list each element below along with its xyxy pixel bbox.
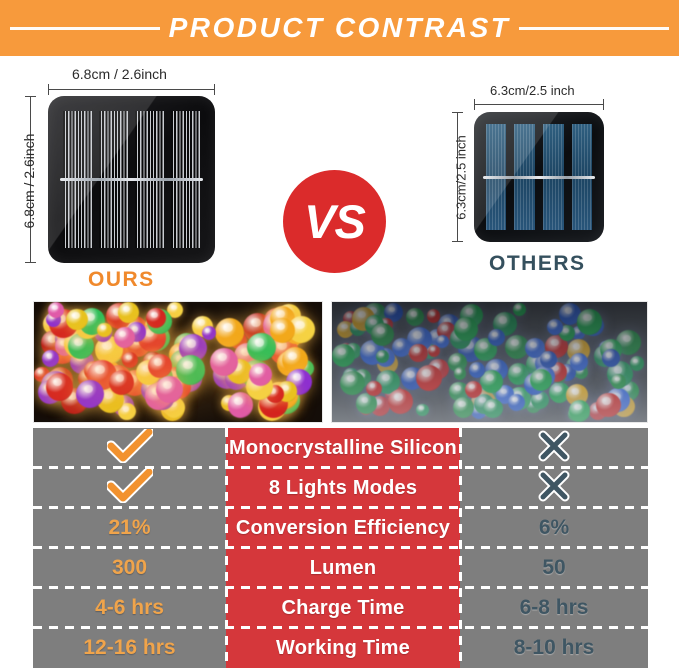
led-bulb (454, 317, 478, 341)
led-bulb (409, 344, 428, 363)
led-bulb (570, 353, 588, 371)
vs-label: VS (304, 194, 365, 249)
led-bulb (488, 329, 505, 346)
others-value-cell: 6% (460, 508, 648, 548)
others-width-dimension-line (474, 104, 604, 105)
ours-busbar (60, 178, 204, 181)
feature-label-cell: Conversion Efficiency (226, 508, 460, 548)
led-bulb (118, 302, 139, 323)
led-bulb (76, 380, 104, 408)
led-bulb (156, 376, 183, 403)
table-row: 300Lumen50 (33, 548, 648, 588)
led-bulb (577, 309, 603, 335)
led-bulb (202, 326, 217, 341)
feature-label-cell: Monocrystalline Silicon (226, 428, 460, 468)
feature-label-cell: 8 Lights Modes (226, 468, 460, 508)
table-vertical-separator-right (459, 428, 462, 668)
led-bulb (356, 393, 376, 413)
led-bulb (122, 352, 138, 368)
table-row: Monocrystalline Silicon (33, 428, 648, 468)
led-bulb (513, 303, 526, 316)
ours-height-label: 6.8cm / 2.6inch (21, 111, 37, 251)
led-bulb (366, 381, 382, 397)
led-bulb (109, 370, 134, 395)
check-icon (107, 429, 153, 463)
panel-comparison-area: 6.8cm / 2.6inch 6.8cm / 2.6inch OURS VS … (0, 56, 679, 290)
table-row: 8 Lights Modes (33, 468, 648, 508)
led-bulb (454, 367, 467, 380)
page-title: PRODUCT CONTRAST (160, 12, 520, 44)
led-bulb (371, 323, 394, 346)
others-busbar (483, 176, 595, 179)
others-value-text: 50 (542, 556, 565, 580)
others-value-text: 8-10 hrs (514, 636, 595, 660)
comparison-table: Monocrystalline Silicon8 Lights Modes21%… (33, 428, 648, 668)
others-value-cell (460, 428, 648, 468)
others-value-cell (460, 468, 648, 508)
product-contrast-infographic: PRODUCT CONTRAST 6.8cm / 2.6inch 6.8cm /… (0, 0, 679, 668)
header-banner: PRODUCT CONTRAST (0, 0, 679, 56)
led-bulb (210, 348, 238, 376)
led-bulb (340, 371, 364, 395)
vs-badge: VS (283, 170, 386, 273)
feature-label-cell: Lumen (226, 548, 460, 588)
others-value-cell: 50 (460, 548, 648, 588)
others-brand-label: OTHERS (489, 252, 586, 276)
others-value-text: 6-8 hrs (520, 596, 589, 620)
ours-value-text: 12-16 hrs (83, 636, 175, 660)
ours-value-text: 4-6 hrs (95, 596, 164, 620)
feature-label-cell: Working Time (226, 628, 460, 668)
led-bulb (547, 319, 563, 335)
led-bulb (436, 335, 449, 348)
table-vertical-separator-left (225, 428, 228, 668)
led-bulb (416, 404, 429, 417)
cross-icon (538, 430, 570, 462)
led-bulb (249, 363, 272, 386)
led-bulb (508, 394, 526, 412)
led-bulb (42, 350, 59, 367)
led-bulb (332, 344, 355, 367)
feature-label-cell: Charge Time (226, 588, 460, 628)
ours-value-cell: 21% (33, 508, 226, 548)
table-row: 4-6 hrsCharge Time6-8 hrs (33, 588, 648, 628)
led-bulb (602, 349, 620, 367)
cross-icon (538, 470, 570, 502)
ours-led-photo (33, 301, 323, 423)
led-bulb (569, 400, 591, 422)
ours-value-text: 21% (108, 516, 150, 540)
others-led-photo (331, 301, 648, 423)
ours-brand-label: OURS (88, 268, 155, 292)
led-bulb (46, 373, 74, 401)
led-bulb (540, 351, 557, 368)
led-bulb (483, 399, 503, 419)
ours-value-cell: 4-6 hrs (33, 588, 226, 628)
led-bulb (406, 308, 424, 326)
led-bulb (388, 389, 414, 415)
table-row: 12-16 hrsWorking Time8-10 hrs (33, 628, 648, 668)
led-bulb (469, 362, 485, 378)
check-icon (107, 469, 153, 503)
others-height-label: 6.3cm/2.5 inch (454, 108, 469, 248)
led-bulb (453, 397, 474, 418)
others-value-cell: 6-8 hrs (460, 588, 648, 628)
ours-value-cell (33, 468, 226, 508)
ours-width-label: 6.8cm / 2.6inch (72, 66, 167, 82)
others-value-cell: 8-10 hrs (460, 628, 648, 668)
others-width-label: 6.3cm/2.5 inch (490, 83, 575, 98)
led-bulb (630, 356, 644, 370)
banner-rule-left (10, 27, 160, 30)
ours-value-cell: 300 (33, 548, 226, 588)
table-row: 21%Conversion Efficiency6% (33, 508, 648, 548)
ours-value-cell (33, 428, 226, 468)
led-bulb (596, 393, 621, 418)
others-solar-panel (474, 112, 604, 242)
banner-rule-right (519, 27, 669, 30)
ours-solar-panel (48, 96, 215, 263)
ours-value-text: 300 (112, 556, 147, 580)
led-bulb (416, 365, 442, 391)
led-bulb (530, 369, 552, 391)
ours-value-cell: 12-16 hrs (33, 628, 226, 668)
ours-width-dimension-line (48, 89, 215, 90)
others-value-text: 6% (539, 516, 569, 540)
led-bulb (376, 350, 389, 363)
